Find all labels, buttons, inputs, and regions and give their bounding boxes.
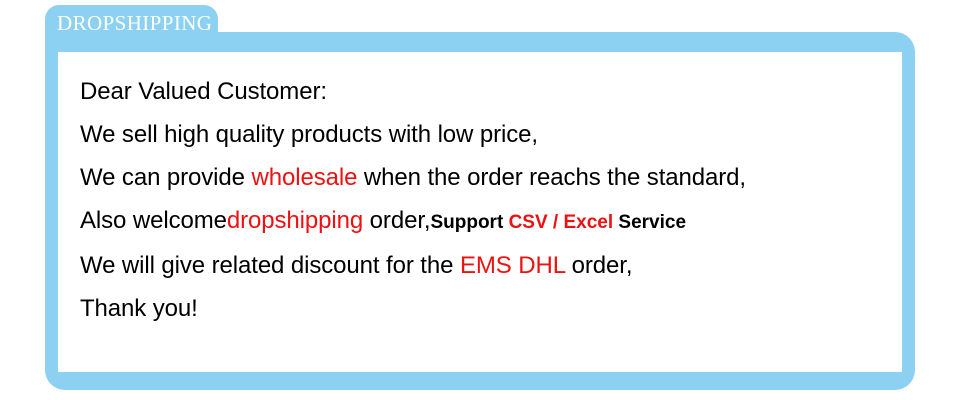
panel-tab-label: DROPSHIPPING [57,11,212,35]
dropshipping-info-panel: DROPSHIPPING Dear Valued Customer:We sel… [0,0,960,400]
message-line-greeting: Dear Valued Customer: [80,70,890,113]
message-segment: EMS DHL [460,252,565,279]
message-segment: Support [430,212,508,233]
customer-message: Dear Valued Customer:We sell high qualit… [80,70,890,330]
message-line-dropshipping-support: Also welcomedropshipping order,Support C… [80,199,890,244]
message-segment: We sell high quality products with low p… [80,121,538,148]
message-segment: We will give related discount for the [80,252,460,279]
message-line-quality-price: We sell high quality products with low p… [80,113,890,156]
panel-white-content-area: Dear Valued Customer:We sell high qualit… [58,52,902,372]
message-segment: order, [363,207,430,234]
message-segment: Thank you! [80,295,198,322]
message-segment: Also welcome [80,207,227,234]
message-segment: wholesale [251,164,357,191]
message-segment: when the order reachs the standard, [357,164,746,191]
message-segment: We can provide [80,164,251,191]
message-segment: CSV / Excel [509,212,614,233]
message-segment: order, [565,252,632,279]
message-line-closing: Thank you! [80,287,890,330]
message-line-wholesale: We can provide wholesale when the order … [80,156,890,199]
message-segment: Dear Valued Customer: [80,78,327,105]
message-segment: dropshipping [227,207,363,234]
message-segment: Service [613,212,686,233]
message-line-shipping-discount: We will give related discount for the EM… [80,244,890,287]
panel-tab-dropshipping: DROPSHIPPING [45,5,218,45]
